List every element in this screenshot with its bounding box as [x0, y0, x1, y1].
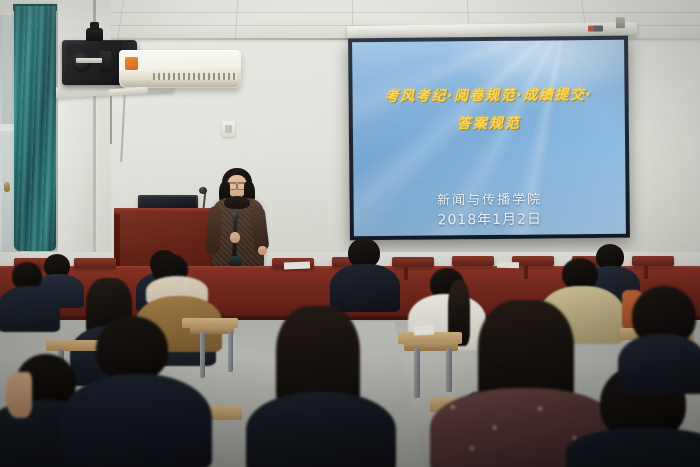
notebook [414, 325, 434, 335]
attendee-shoulders [0, 286, 60, 332]
presenter-hand-right [258, 246, 267, 255]
desk-leg [446, 348, 452, 392]
classroom-photo: 考风考纪·阅卷规范·成绩提交· 答案规范 新闻与传播学院 2018年1月2日 [0, 0, 700, 467]
projection-screen-frame: 考风考纪·阅卷规范·成绩提交· 答案规范 新闻与传播学院 2018年1月2日 [348, 36, 630, 241]
attendee-shoulders [246, 392, 396, 467]
papers-on-desk [284, 262, 310, 270]
chair-back [74, 258, 116, 268]
window-handle[interactable] [4, 182, 10, 192]
projected-slide: 考风考纪·阅卷规范·成绩提交· 答案规范 新闻与传播学院 2018年1月2日 [352, 40, 626, 237]
papers-on-desk [497, 262, 519, 268]
speaker-mount-knob [90, 22, 99, 30]
speaker-badge [76, 58, 102, 63]
desk-leg [228, 332, 233, 372]
chair-back [392, 257, 434, 267]
slide-title-line1: 考风考纪·阅卷规范·成绩提交· [352, 84, 624, 107]
chair-back [452, 256, 494, 266]
window-curtain[interactable] [14, 6, 56, 251]
attendee-shoulders [330, 264, 400, 312]
attendee-head [96, 316, 168, 382]
desk-leg [200, 332, 205, 378]
chair-back [632, 256, 674, 266]
chair-leg [644, 266, 648, 279]
presenter [206, 168, 268, 278]
ac-brand-logo-icon [125, 57, 138, 70]
desk-leg [414, 348, 420, 398]
attendee-shoulders [618, 334, 700, 394]
ac-lower-lip [121, 80, 239, 87]
slide-date: 2018年1月2日 [354, 208, 626, 231]
power-outlet[interactable] [222, 121, 235, 137]
chair-leg [404, 267, 408, 280]
attendee-face-profile [6, 372, 32, 418]
presenter-collar [224, 196, 250, 209]
microphone-head-icon [231, 211, 239, 219]
housing-bracket [616, 17, 625, 28]
slide-title-line2: 答案规范 [353, 112, 625, 135]
air-conditioner [119, 50, 241, 88]
microphone-base [229, 256, 242, 266]
slide-organization: 新闻与传播学院 [353, 188, 625, 210]
attendee-shoulders [62, 374, 212, 467]
chair-leg [524, 266, 528, 279]
housing-brand-logo-icon [588, 25, 603, 31]
presenter-hand-left [230, 232, 240, 243]
cable [110, 92, 112, 144]
